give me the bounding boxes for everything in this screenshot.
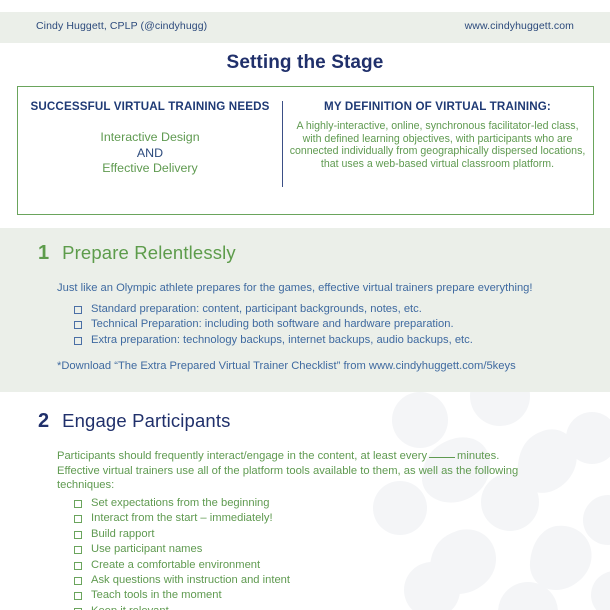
checkbox-icon[interactable] xyxy=(74,500,82,508)
section-2-intro-line-3: techniques: xyxy=(57,478,557,493)
checkbox-icon[interactable] xyxy=(74,592,82,600)
page-header-band: Cindy Huggett, CPLP (@cindyhugg) www.cin… xyxy=(0,12,610,43)
section-1-intro: Just like an Olympic athlete prepares fo… xyxy=(57,281,557,296)
checkbox-icon[interactable] xyxy=(74,306,82,314)
list-item[interactable]: Standard preparation: content, participa… xyxy=(74,302,473,317)
list-item-label: Use participant names xyxy=(91,542,202,557)
my-definition-body: A highly-interactive, online, synchronou… xyxy=(282,120,593,170)
section-2-title: Engage Participants xyxy=(62,410,230,432)
list-item-label: Ask questions with instruction and inten… xyxy=(91,573,290,588)
list-item[interactable]: Extra preparation: technology backups, i… xyxy=(74,333,473,348)
list-item-label: Standard preparation: content, participa… xyxy=(91,302,422,317)
section-1-number: 1 xyxy=(38,242,49,265)
section-2-heading: 2 Engage Participants xyxy=(38,410,231,433)
list-item[interactable]: Teach tools in the moment xyxy=(74,588,290,603)
intro-text-part-2: minutes. xyxy=(457,450,499,462)
list-item[interactable]: Technical Preparation: including both so… xyxy=(74,317,473,332)
successful-training-body: Interactive Design AND Effective Deliver… xyxy=(18,130,282,177)
list-item[interactable]: Interact from the start – immediately! xyxy=(74,511,290,526)
section-2-checklist: Set expectations from the beginning Inte… xyxy=(74,496,290,610)
needs-line-1: Interactive Design xyxy=(18,130,282,146)
definition-box: SUCCESSFUL VIRTUAL TRAINING NEEDS Intera… xyxy=(17,86,594,215)
list-item-label: Keep it relevant xyxy=(91,604,169,610)
list-item[interactable]: Keep it relevant xyxy=(74,604,290,610)
needs-line-2: AND xyxy=(18,146,282,162)
checkbox-icon[interactable] xyxy=(74,562,82,570)
successful-training-heading: SUCCESSFUL VIRTUAL TRAINING NEEDS xyxy=(18,100,282,113)
section-2-intro-line-2: Effective virtual trainers use all of th… xyxy=(57,464,557,479)
section-2-intro-line-1: Participants should frequently interact/… xyxy=(57,449,557,464)
list-item-label: Create a comfortable environment xyxy=(91,558,260,573)
list-item-label: Build rapport xyxy=(91,527,154,542)
list-item-label: Technical Preparation: including both so… xyxy=(91,317,454,332)
checkbox-icon[interactable] xyxy=(74,577,82,585)
document-page: Cindy Huggett, CPLP (@cindyhugg) www.cin… xyxy=(0,0,610,610)
list-item-label: Extra preparation: technology backups, i… xyxy=(91,333,473,348)
list-item-label: Set expectations from the beginning xyxy=(91,496,270,511)
section-2-intro: Participants should frequently interact/… xyxy=(57,449,557,493)
page-title: Setting the Stage xyxy=(0,52,610,74)
section-1-heading: 1 Prepare Relentlessly xyxy=(38,242,236,265)
definition-box-right-column: MY DEFINITION OF VIRTUAL TRAINING: A hig… xyxy=(282,87,593,214)
list-item[interactable]: Ask questions with instruction and inten… xyxy=(74,573,290,588)
checkbox-icon[interactable] xyxy=(74,546,82,554)
section-2-number: 2 xyxy=(38,410,49,433)
fill-in-blank[interactable] xyxy=(429,457,455,458)
my-definition-heading: MY DEFINITION OF VIRTUAL TRAINING: xyxy=(282,100,593,113)
list-item[interactable]: Build rapport xyxy=(74,527,290,542)
checkbox-icon[interactable] xyxy=(74,531,82,539)
section-engage-participants: 2 Engage Participants Participants shoul… xyxy=(0,396,610,610)
section-1-title: Prepare Relentlessly xyxy=(62,242,236,264)
section-1-footnote[interactable]: *Download “The Extra Prepared Virtual Tr… xyxy=(57,359,516,373)
needs-line-3: Effective Delivery xyxy=(18,161,282,177)
definition-box-left-column: SUCCESSFUL VIRTUAL TRAINING NEEDS Intera… xyxy=(18,87,282,214)
list-item[interactable]: Create a comfortable environment xyxy=(74,558,290,573)
section-1-checklist: Standard preparation: content, participa… xyxy=(74,302,473,348)
checkbox-icon[interactable] xyxy=(74,337,82,345)
website-url[interactable]: www.cindyhuggett.com xyxy=(465,20,574,32)
intro-text-part-1: Participants should frequently interact/… xyxy=(57,450,427,462)
checkbox-icon[interactable] xyxy=(74,515,82,523)
list-item-label: Teach tools in the moment xyxy=(91,588,222,603)
list-item[interactable]: Use participant names xyxy=(74,542,290,557)
list-item[interactable]: Set expectations from the beginning xyxy=(74,496,290,511)
list-item-label: Interact from the start – immediately! xyxy=(91,511,273,526)
checkbox-icon[interactable] xyxy=(74,321,82,329)
section-prepare-relentlessly: 1 Prepare Relentlessly Just like an Olym… xyxy=(0,228,610,392)
author-byline: Cindy Huggett, CPLP (@cindyhugg) xyxy=(36,20,207,32)
